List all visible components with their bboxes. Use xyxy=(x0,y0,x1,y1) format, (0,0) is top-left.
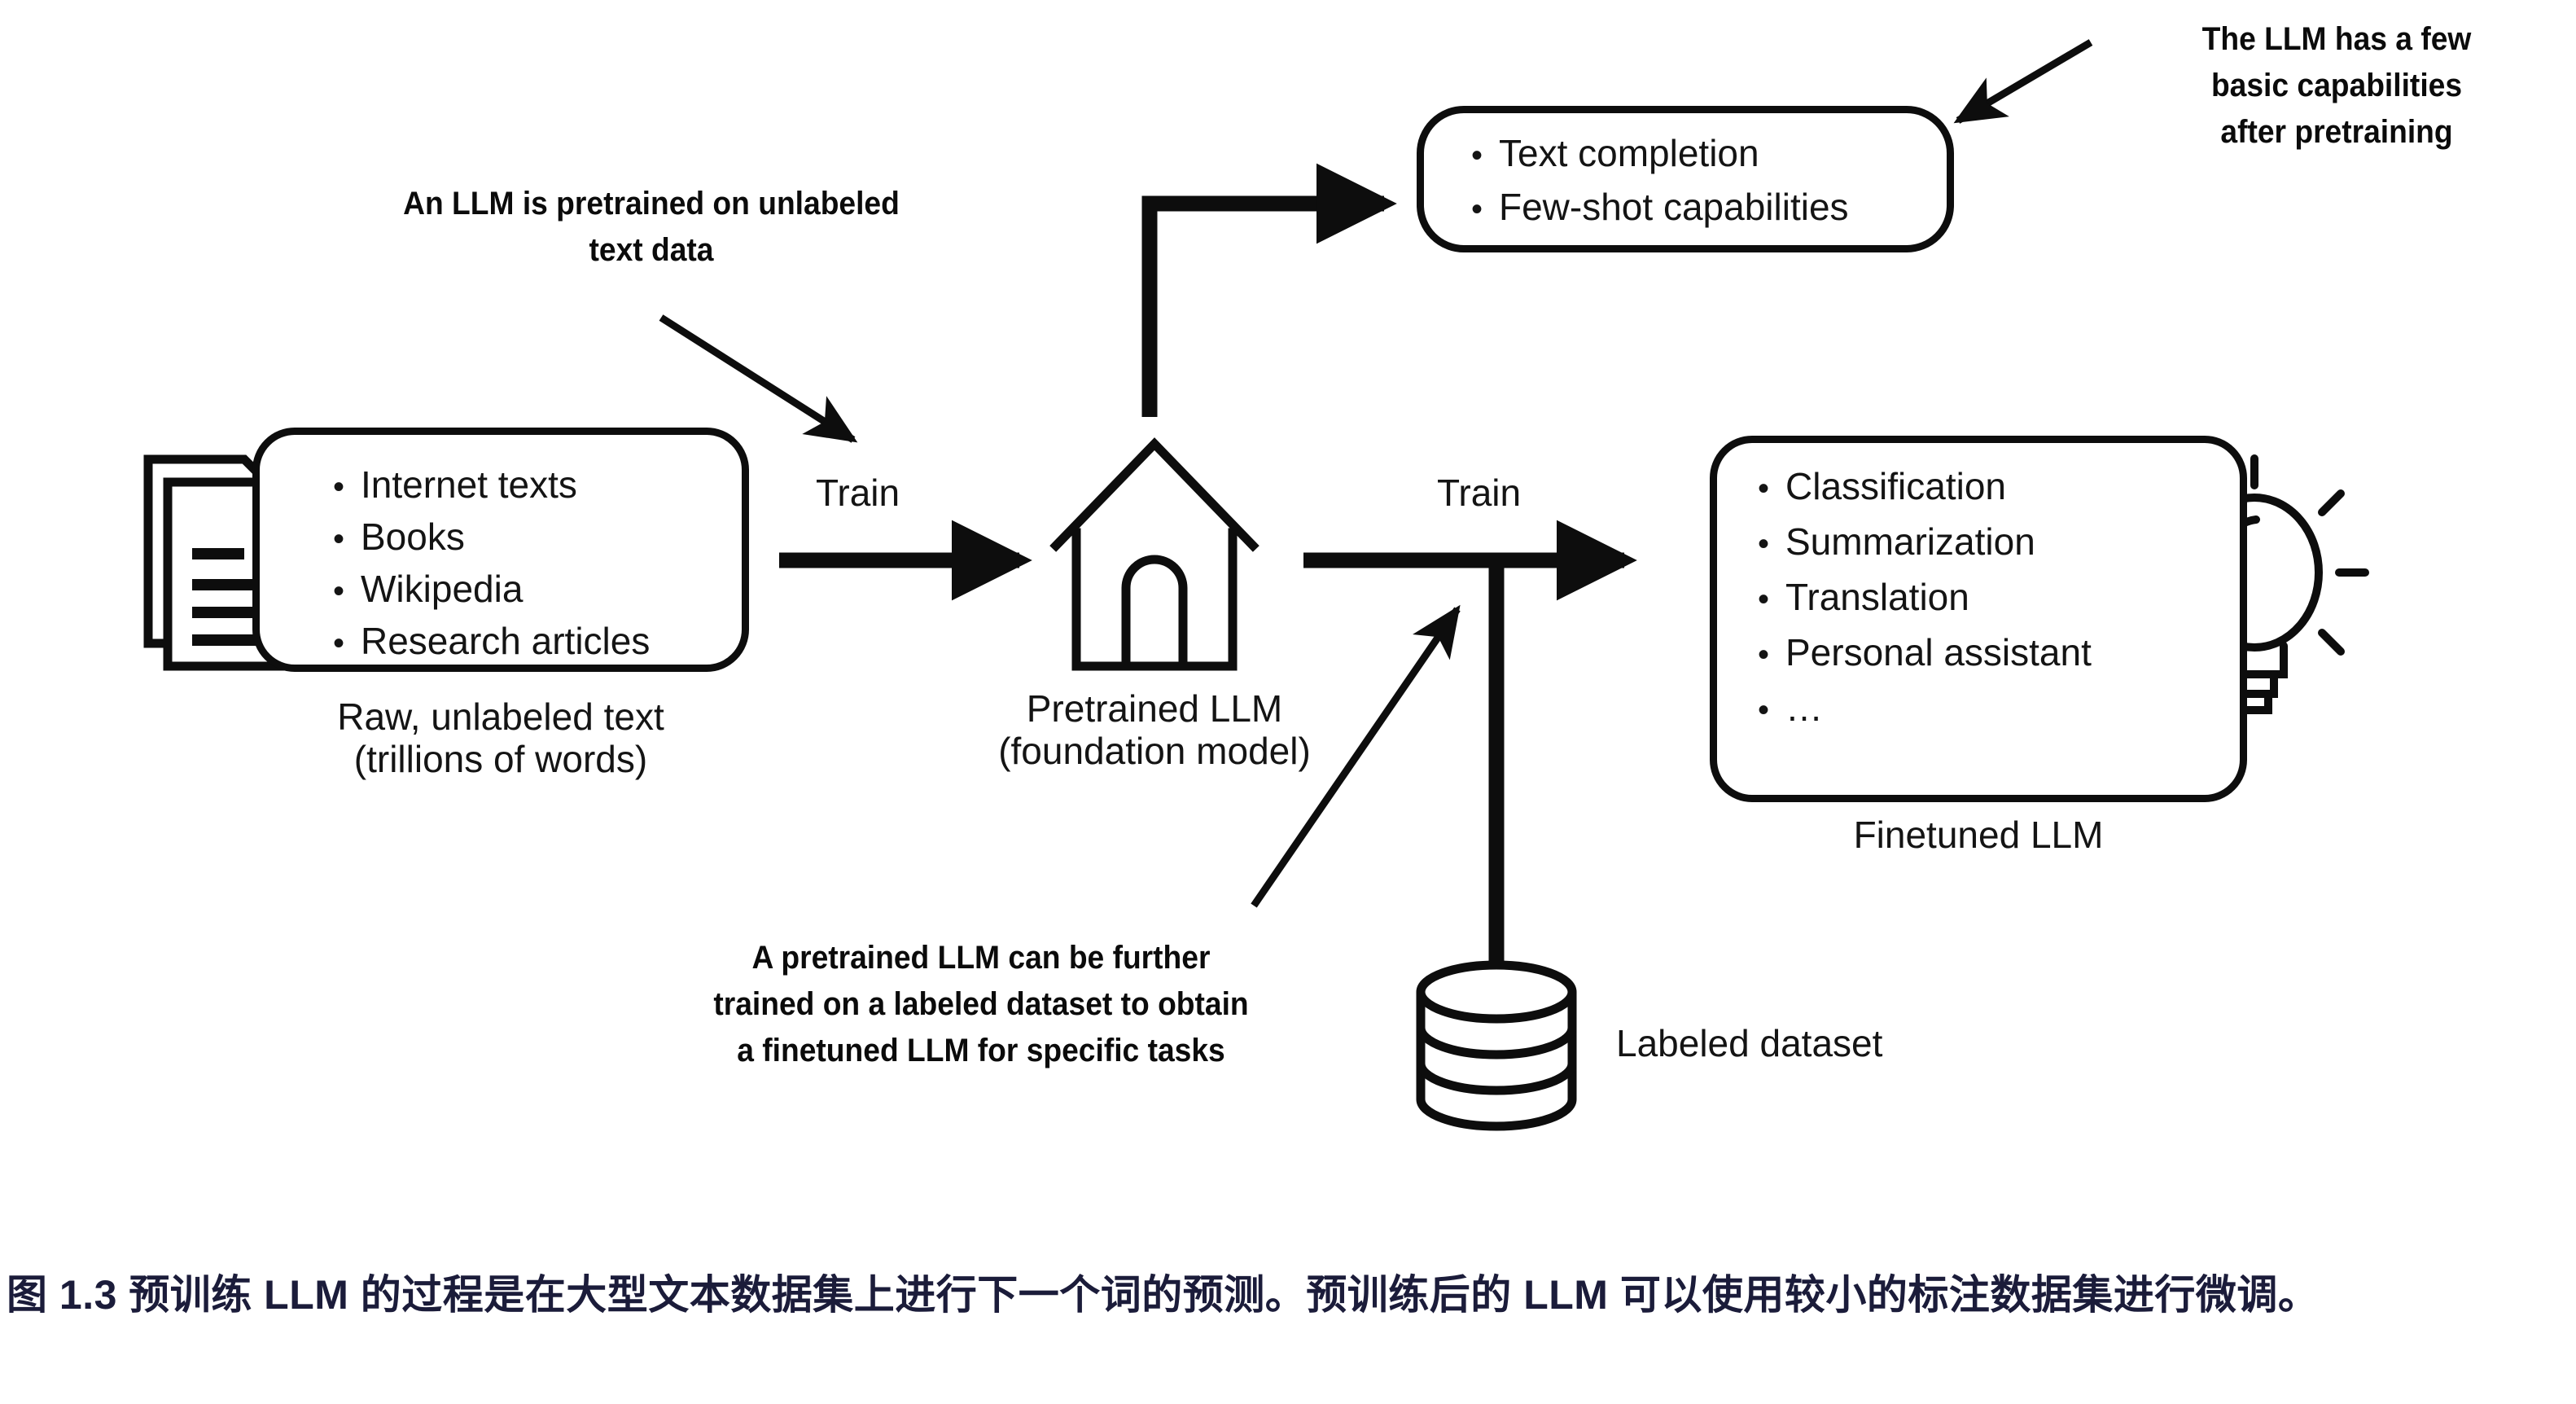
leader-capabilities-note xyxy=(1958,42,2091,121)
bullet-dot: • xyxy=(1758,583,1785,616)
list-item: • Summarization xyxy=(1758,523,2092,560)
list-item-label: Few-shot capabilities xyxy=(1499,188,1849,226)
labeled-dataset-label: Labeled dataset xyxy=(1616,1023,1882,1064)
list-item: • Translation xyxy=(1758,578,2092,616)
train-label-pretrain: Train xyxy=(816,472,900,514)
finetuned-llm-box: • Classification • Summarization • Trans… xyxy=(1710,436,2247,802)
figure-root: • Internet texts • Books • Wikipedia • R… xyxy=(0,0,2576,1404)
bullet-dot: • xyxy=(1758,638,1785,671)
bullet-dot: • xyxy=(1758,694,1785,726)
list-item: • Research articles xyxy=(333,622,650,660)
raw-data-caption: Raw, unlabeled text (trillions of words) xyxy=(204,696,798,780)
capabilities-box: • Text completion • Few-shot capabilitie… xyxy=(1417,106,1954,252)
capabilities-list: • Text completion • Few-shot capabilitie… xyxy=(1471,134,1849,226)
pretrained-llm-caption: Pretrained LLM (foundation model) xyxy=(910,688,1399,772)
list-item-label: Internet texts xyxy=(361,466,577,503)
list-item: • Few-shot capabilities xyxy=(1471,188,1849,226)
list-item: • Classification xyxy=(1758,467,2092,505)
bullet-dot: • xyxy=(1758,472,1785,505)
finetuned-llm-list: • Classification • Summarization • Trans… xyxy=(1758,467,2092,726)
annotation-capabilities-note: The LLM has a few basic capabilities aft… xyxy=(2117,16,2556,155)
bullet-dot: • xyxy=(1758,528,1785,560)
list-item: • … xyxy=(1758,689,2092,726)
list-item-label: Text completion xyxy=(1499,134,1759,172)
raw-data-box: • Internet texts • Books • Wikipedia • R… xyxy=(252,428,749,672)
list-item: • Internet texts xyxy=(333,466,650,503)
list-item-label: Summarization xyxy=(1785,523,2035,560)
bullet-dot: • xyxy=(333,575,361,608)
edge-pretrained-to-capabilities xyxy=(1150,204,1384,417)
list-item-label: … xyxy=(1785,689,1823,726)
train-label-finetune: Train xyxy=(1437,472,1521,514)
finetuned-llm-caption: Finetuned LLM xyxy=(1734,814,2223,857)
list-item-label: Wikipedia xyxy=(361,570,523,608)
list-item-label: Books xyxy=(361,518,465,555)
bullet-dot: • xyxy=(1471,193,1499,226)
raw-data-list: • Internet texts • Books • Wikipedia • R… xyxy=(333,466,650,660)
house-icon xyxy=(1056,444,1253,666)
leader-pretrain-note xyxy=(661,318,853,440)
list-item-label: Classification xyxy=(1785,467,2006,505)
database-cylinder-icon xyxy=(1421,965,1572,1126)
list-item: • Wikipedia xyxy=(333,570,650,608)
bullet-dot: • xyxy=(333,523,361,555)
annotation-finetune-note: A pretrained LLM can be further trained … xyxy=(667,935,1295,1073)
list-item-label: Translation xyxy=(1785,578,1969,616)
list-item: • Text completion xyxy=(1471,134,1849,172)
bullet-dot: • xyxy=(1471,139,1499,172)
list-item: • Books xyxy=(333,518,650,555)
bullet-dot: • xyxy=(333,471,361,503)
annotation-pretrain-note: An LLM is pretrained on unlabeled text d… xyxy=(348,181,954,274)
figure-caption: 图 1.3 预训练 LLM 的过程是在大型文本数据集上进行下一个词的预测。预训练… xyxy=(7,1267,2571,1323)
list-item-label: Personal assistant xyxy=(1785,634,2092,671)
list-item: • Personal assistant xyxy=(1758,634,2092,671)
bullet-dot: • xyxy=(333,627,361,660)
list-item-label: Research articles xyxy=(361,622,650,660)
